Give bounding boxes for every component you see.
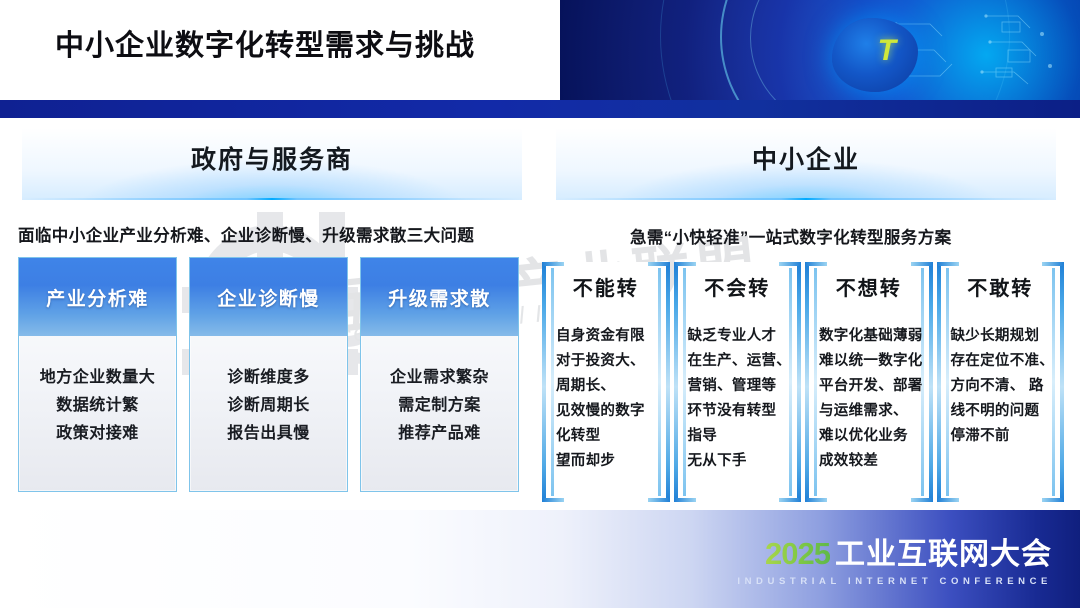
slide-root: T 中小企业数字化转型需求与挑战 工业互联网产业联盟 Alliance of I… [0,0,1080,608]
heading-underline-right [556,198,1056,200]
card-bracket-bar-r2 [1052,268,1055,496]
card-bracket-hook-bl [674,498,696,502]
right-card-body: 自身资金有限对于投资大、周期长、见效慢的数字化转型望而却步 [556,324,658,474]
card-bracket-bar-r2 [789,268,792,496]
right-card-line: 方向不清、 路 [951,374,1053,399]
left-card-header: 产业分析难 [19,258,176,336]
left-card-line: 诊断维度多 [190,364,347,392]
left-card-line: 企业需求繁杂 [361,364,518,392]
right-card-line: 化转型 [556,424,658,449]
right-card-line: 难以优化业务 [819,424,921,449]
card-bracket-hook-tr [911,262,933,266]
left-card[interactable]: 企业诊断慢诊断维度多诊断周期长报告出具慢 [189,257,348,492]
slide-header: T 中小企业数字化转型需求与挑战 [0,0,1080,100]
left-card-group: 产业分析难地方企业数量大数据统计繁政策对接难企业诊断慢诊断维度多诊断周期长报告出… [18,257,523,492]
right-card-line: 停滞不前 [951,424,1053,449]
card-bracket-bar-r2 [658,268,661,496]
right-card-line: 营销、管理等 [688,374,790,399]
right-card-line: 与运维需求、 [819,399,921,424]
left-card-body: 诊断维度多诊断周期长报告出具慢 [190,336,347,448]
right-card-line: 难以统一数字化 [819,349,921,374]
right-card-line: 缺少长期规划 [951,324,1053,349]
header-blue-bar [0,100,1080,118]
card-bracket-hook-bl [542,498,564,502]
card-bracket-hook-tl [937,262,959,266]
left-card-line: 数据统计繁 [19,392,176,420]
right-card-line: 成效较差 [819,449,921,474]
right-card-group: 不能转自身资金有限对于投资大、周期长、见效慢的数字化转型望而却步不会转缺乏专业人… [542,262,1064,502]
header-tech-graphic: T [560,0,1080,100]
left-card-line: 政策对接难 [19,420,176,448]
left-card-title: 企业诊断慢 [217,284,320,311]
card-bracket-hook-bl [805,498,827,502]
card-bracket-hook-tr [779,262,801,266]
card-bracket-bar-l2 [683,268,686,496]
right-card-line: 望而却步 [556,449,658,474]
left-card-line: 地方企业数量大 [19,364,176,392]
right-card-body: 缺乏专业人才在生产、运营、营销、管理等环节没有转型指导无从下手 [688,324,790,474]
right-card-line: 存在定位不准、 [951,349,1053,374]
right-card-title: 不会转 [674,272,802,301]
right-card[interactable]: 不敢转缺少长期规划存在定位不准、方向不清、 路线不明的问题停滞不前 [937,262,1065,502]
panel-subtitle-right: 急需“小快轻准”一站式数字化转型服务方案 [630,224,952,248]
heading-underline-left [22,198,522,200]
right-card-line: 平台开发、部署 [819,374,921,399]
panel-heading-left-label: 政府与服务商 [22,140,522,176]
right-card-body: 缺少长期规划存在定位不准、方向不清、 路线不明的问题停滞不前 [951,324,1053,449]
card-bracket-bar-l2 [814,268,817,496]
left-card-header: 升级需求散 [361,258,518,336]
right-card-line: 数字化基础薄弱 [819,324,921,349]
right-card-line: 无从下手 [688,449,790,474]
left-card-title: 升级需求散 [388,284,491,311]
right-card-line: 自身资金有限 [556,324,658,349]
panel-heading-right-label: 中小企业 [556,140,1056,176]
left-card[interactable]: 产业分析难地方企业数量大数据统计繁政策对接难 [18,257,177,492]
right-card-title: 不想转 [805,272,933,301]
left-card-line: 需定制方案 [361,392,518,420]
left-card-header: 企业诊断慢 [190,258,347,336]
card-bracket-hook-bl [937,498,959,502]
right-card-line: 见效慢的数字 [556,399,658,424]
left-card-body: 企业需求繁杂需定制方案推荐产品难 [361,336,518,448]
card-bracket-hook-tr [1042,262,1064,266]
card-bracket-hook-tl [542,262,564,266]
slide-footer: 2025 工业互联网大会 INDUSTRIAL INTERNET CONFERE… [0,510,1080,608]
left-card-title: 产业分析难 [46,284,149,311]
conference-name-en: INDUSTRIAL INTERNET CONFERENCE [737,577,1052,587]
right-card-line: 环节没有转型 [688,399,790,424]
conference-year: 2025 [765,538,830,569]
left-card-line: 诊断周期长 [190,392,347,420]
page-title: 中小企业数字化转型需求与挑战 [55,22,475,64]
card-bracket-hook-tr [648,262,670,266]
right-card-line: 指导 [688,424,790,449]
right-card[interactable]: 不想转数字化基础薄弱难以统一数字化平台开发、部署与运维需求、难以优化业务成效较差 [805,262,933,502]
left-card-line: 报告出具慢 [190,420,347,448]
right-card[interactable]: 不会转缺乏专业人才在生产、运营、营销、管理等环节没有转型指导无从下手 [674,262,802,502]
card-bracket-hook-tl [805,262,827,266]
card-bracket-hook-br [648,498,670,502]
panel-heading-right: 中小企业 [556,128,1056,200]
card-bracket-hook-br [1042,498,1064,502]
left-card[interactable]: 升级需求散企业需求繁杂需定制方案推荐产品难 [360,257,519,492]
card-bracket-hook-tl [674,262,696,266]
right-card-title: 不能转 [542,272,670,301]
conference-logo: 2025 工业互联网大会 INDUSTRIAL INTERNET CONFERE… [737,538,1052,587]
conference-name-cn: 工业互联网大会 [835,540,1052,570]
left-card-line: 推荐产品难 [361,420,518,448]
panel-subtitle-left: 面临中小企业产业分析难、企业诊断慢、升级需求散三大问题 [18,222,474,246]
card-bracket-bar-l2 [551,268,554,496]
left-card-body: 地方企业数量大数据统计繁政策对接难 [19,336,176,448]
card-bracket-hook-br [911,498,933,502]
right-card-line: 周期长、 [556,374,658,399]
right-card-line: 线不明的问题 [951,399,1053,424]
right-card-line: 在生产、运营、 [688,349,790,374]
logo-letter: T [878,36,894,66]
right-card-line: 缺乏专业人才 [688,324,790,349]
panel-heading-left: 政府与服务商 [22,128,522,200]
right-card-body: 数字化基础薄弱难以统一数字化平台开发、部署与运维需求、难以优化业务成效较差 [819,324,921,474]
right-card-line: 对于投资大、 [556,349,658,374]
card-bracket-hook-br [779,498,801,502]
right-card-title: 不敢转 [937,272,1065,301]
right-card[interactable]: 不能转自身资金有限对于投资大、周期长、见效慢的数字化转型望而却步 [542,262,670,502]
card-bracket-bar-l2 [946,268,949,496]
